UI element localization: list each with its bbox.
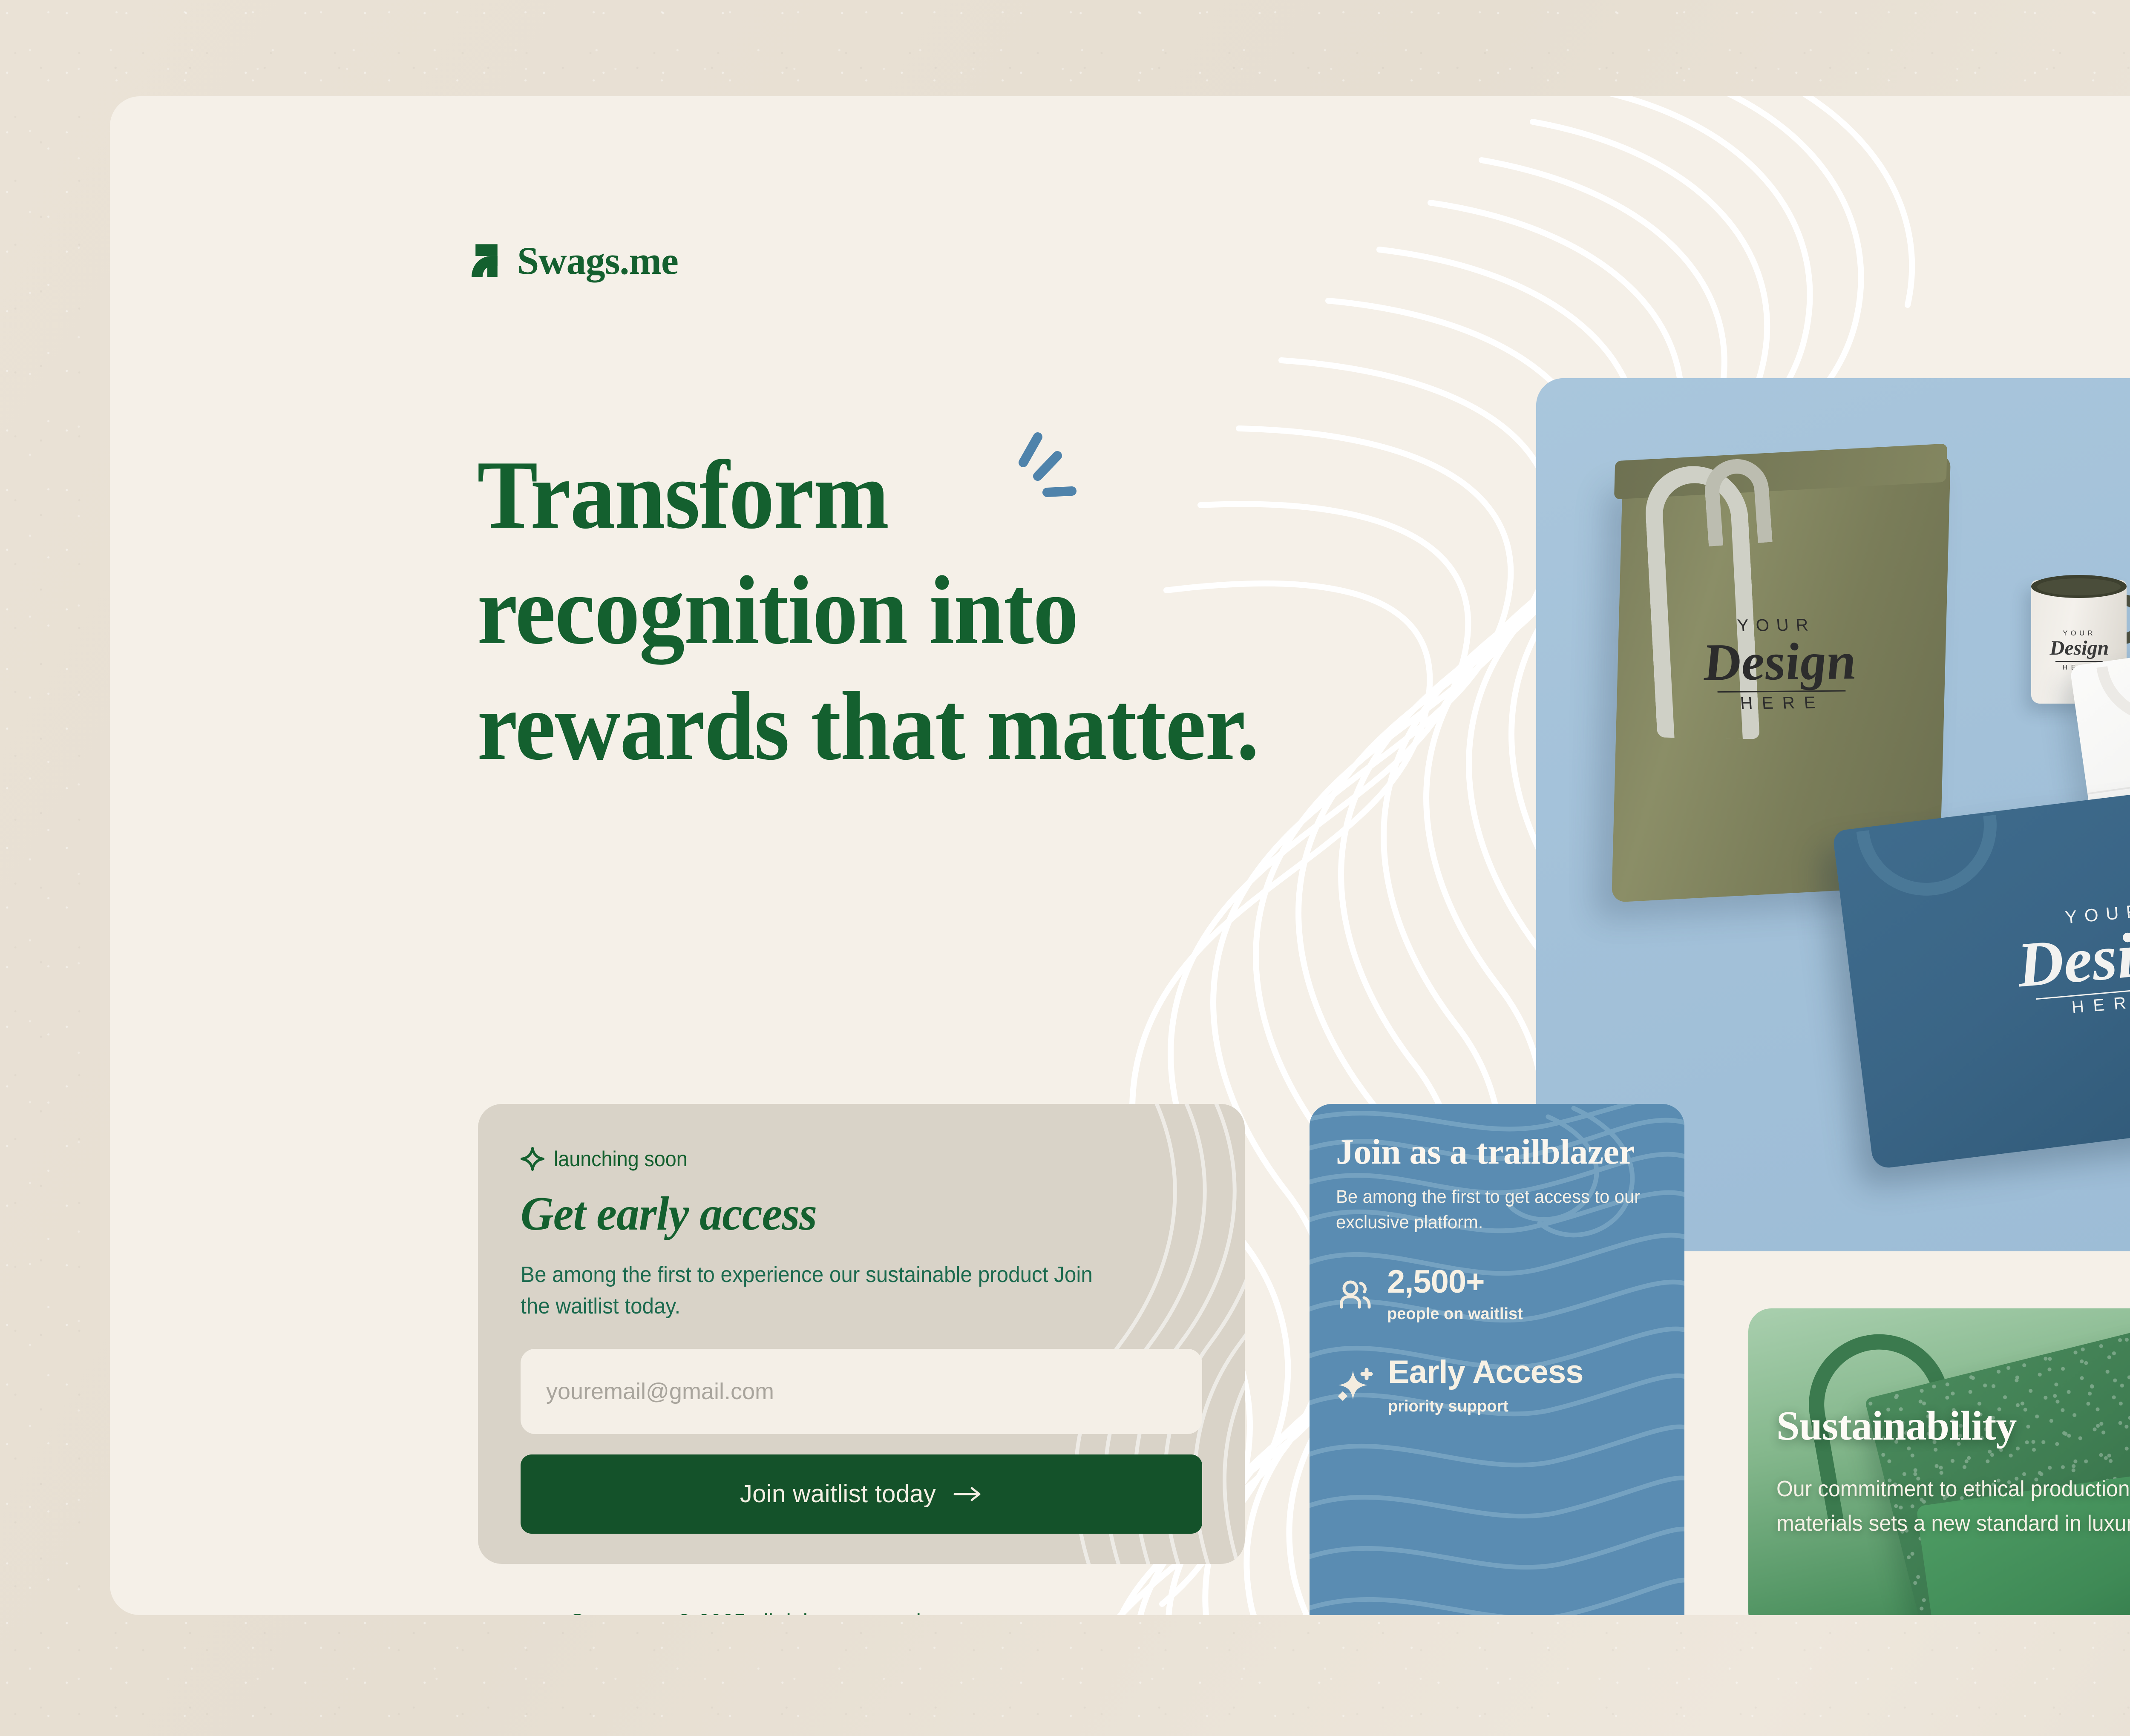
swags-logo-mark-icon (467, 241, 506, 280)
join-waitlist-label: Join waitlist today (740, 1480, 936, 1508)
footer: Swags.me © 2025 all rights reserved (477, 1609, 943, 1615)
email-input[interactable] (521, 1349, 1202, 1434)
blue-tshirt-product: YOUR Design HERE (1832, 779, 2130, 1170)
launching-soon-label: launching soon (554, 1147, 688, 1171)
join-waitlist-button[interactable]: Join waitlist today (521, 1454, 1202, 1534)
sparkle-lines-icon (1007, 429, 1084, 506)
launching-soon-badge: launching soon (521, 1147, 1202, 1171)
early-access-description: Be among the first to experience our sus… (521, 1259, 1111, 1322)
stat-waitlist-value: 2,500+ (1387, 1266, 1523, 1298)
trailblazer-card: Join as a trailblazer Be among the first… (1310, 1104, 1684, 1615)
trailblazer-description: Be among the first to get access to our … (1336, 1184, 1648, 1235)
sustainability-card: Sustainability Our commitment to ethical… (1748, 1308, 2130, 1615)
four-point-star-icon (521, 1147, 544, 1171)
page-title: Transform recognition into rewards that … (477, 437, 1269, 784)
stat-early-access-label: priority support (1388, 1397, 1583, 1416)
brand-logo[interactable]: Swags.me (467, 241, 678, 280)
trailblazer-title: Join as a trailblazer (1336, 1132, 1658, 1172)
main-page-container: Swags.me Transform recognition into rewa… (110, 96, 2130, 1615)
sustainability-description: Our commitment to ethical production and… (1776, 1472, 2130, 1541)
stat-early-access: Early Access priority support (1336, 1354, 1658, 1416)
sparkles-icon (1336, 1365, 1375, 1405)
stat-waitlist: 2,500+ people on waitlist (1336, 1266, 1658, 1323)
early-access-title: Get early access (521, 1187, 1175, 1242)
footer-copyright: Swags.me © 2025 all rights reserved (570, 1609, 921, 1615)
arrow-right-icon (953, 1486, 983, 1503)
stat-early-access-value: Early Access (1388, 1354, 1583, 1391)
stat-waitlist-label: people on waitlist (1387, 1305, 1523, 1323)
early-access-card: launching soon Get early access Be among… (478, 1104, 1245, 1564)
brand-name: Swags.me (517, 241, 678, 280)
sustainability-title: Sustainability (1776, 1402, 2130, 1450)
users-icon (1336, 1276, 1374, 1314)
